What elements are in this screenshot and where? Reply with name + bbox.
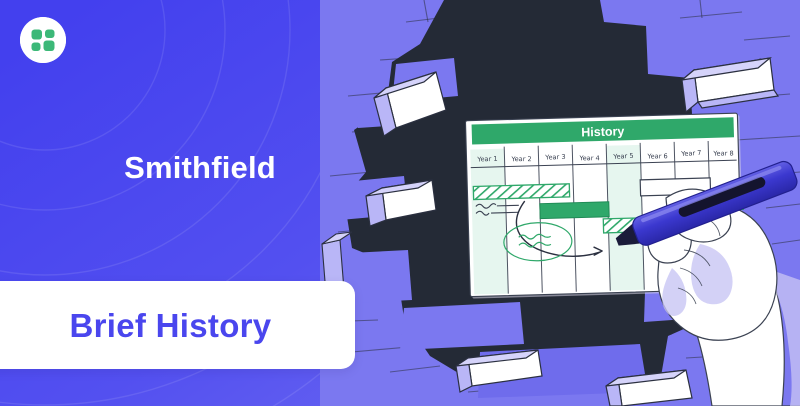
svg-text:Year 2: Year 2: [510, 155, 531, 163]
brand-name: Smithfield: [0, 152, 400, 183]
svg-text:Year 3: Year 3: [544, 153, 566, 162]
hatched-bar-row-1: [473, 184, 569, 200]
whiteboard-header-label: History: [581, 124, 624, 139]
page-title: Brief History: [24, 309, 272, 342]
svg-text:Year 1: Year 1: [476, 155, 498, 164]
svg-text:Year 4: Year 4: [578, 154, 599, 162]
title-card: Brief History: [0, 281, 355, 369]
svg-text:Year 5: Year 5: [612, 152, 634, 161]
svg-text:Year 8: Year 8: [712, 149, 733, 157]
svg-text:Year 6: Year 6: [646, 152, 667, 160]
tinted-column-year-1: [470, 149, 508, 295]
smithfield-brief-history-banner: History Year 1: [0, 0, 800, 406]
solid-bar-row-2: [540, 202, 609, 219]
four-squares-logo-icon[interactable]: [20, 17, 66, 63]
svg-text:Year 7: Year 7: [680, 149, 702, 158]
